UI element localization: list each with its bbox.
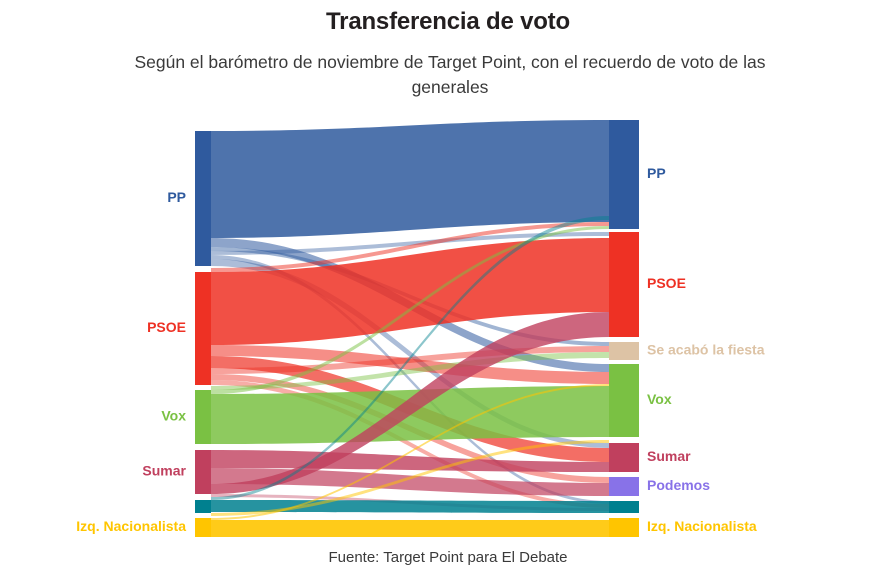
sankey-link-L_PP-to-R_PP[interactable] — [211, 120, 609, 238]
node-label-L_PP: PP — [167, 189, 186, 205]
node-label-R_SEACABO: Se acabó la fiesta — [647, 342, 765, 358]
node-label-L_SUMAR: Sumar — [142, 463, 186, 479]
sankey-node-R_IZQ[interactable] — [609, 518, 639, 537]
sankey-diagram: PPPSOEVoxSumarIzq. NacionalistaPPPSOESe … — [0, 0, 896, 586]
sankey-node-R_PP[interactable] — [609, 120, 639, 229]
node-label-L_PSOE: PSOE — [147, 319, 186, 335]
sankey-node-R_PSOE[interactable] — [609, 232, 639, 337]
node-label-L_IZQ: Izq. Nacionalista — [76, 518, 186, 534]
source-note: Fuente: Target Point para El Debate — [0, 549, 896, 566]
sankey-node-R_TEAL[interactable] — [609, 501, 639, 513]
sankey-node-L_VOX[interactable] — [195, 390, 211, 444]
node-label-R_SUMAR: Sumar — [647, 448, 691, 464]
sankey-node-L_PP[interactable] — [195, 131, 211, 266]
sankey-node-R_VOX[interactable] — [609, 364, 639, 437]
sankey-links-group — [211, 120, 609, 537]
sankey-link-L_IZQ-to-R_IZQ[interactable] — [211, 520, 609, 537]
sankey-node-L_SUMAR[interactable] — [195, 450, 211, 494]
sankey-node-R_SUMAR[interactable] — [609, 443, 639, 472]
sankey-node-L_TEAL[interactable] — [195, 500, 211, 513]
sankey-node-R_SEACABO[interactable] — [609, 342, 639, 360]
node-label-R_VOX: Vox — [647, 391, 672, 407]
sankey-node-L_IZQ[interactable] — [195, 518, 211, 537]
node-label-R_PSOE: PSOE — [647, 275, 686, 291]
sankey-node-R_PODEMOS[interactable] — [609, 477, 639, 496]
node-label-R_IZQ: Izq. Nacionalista — [647, 518, 757, 534]
node-label-L_VOX: Vox — [161, 408, 186, 424]
node-label-R_PP: PP — [647, 165, 666, 181]
node-label-R_PODEMOS: Podemos — [647, 477, 710, 493]
sankey-node-L_PSOE[interactable] — [195, 272, 211, 385]
sankey-chart-root: Transferencia de voto Según el barómetro… — [0, 0, 896, 586]
